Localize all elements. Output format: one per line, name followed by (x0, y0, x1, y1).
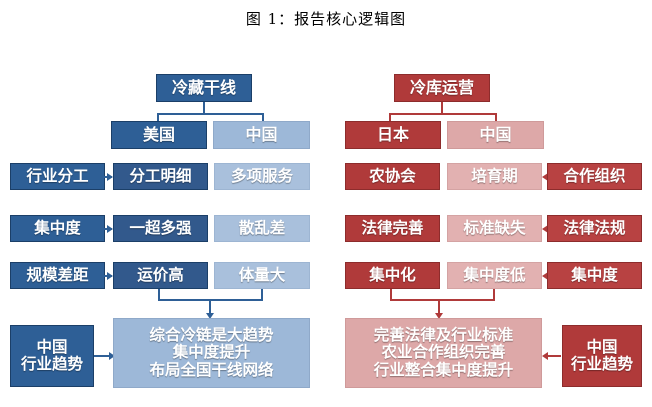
right-row-jp-2[interactable]: 集中化 (345, 262, 440, 289)
left-row-topic-1[interactable]: 集中度 (10, 215, 105, 242)
right-row-topic-1[interactable]: 法律法规 (547, 215, 642, 242)
right-row-topic-2[interactable]: 集中度 (547, 262, 642, 289)
right-root-box[interactable]: 冷库运营 (394, 74, 490, 102)
left-row-cn-2[interactable]: 体量大 (214, 262, 310, 289)
left-child-box-us[interactable]: 美国 (111, 121, 207, 149)
left-row-topic-2[interactable]: 规模差距 (10, 262, 105, 289)
left-root-bar (157, 113, 264, 115)
left-arrow-row-1-shaft (104, 228, 112, 230)
right-child-box-cn[interactable]: 中国 (447, 121, 544, 149)
left-row-us-0[interactable]: 分工明细 (113, 163, 208, 190)
right-merge-bar (390, 299, 495, 301)
left-conclusion-arrow-shaft (94, 355, 110, 357)
right-row-cn-0[interactable]: 培育期 (447, 163, 542, 190)
right-row-jp-0[interactable]: 农协会 (345, 163, 440, 190)
right-row-jp-1[interactable]: 法律完善 (345, 215, 440, 242)
left-conclusion-text[interactable]: 综合冷链是大趋势 集中度提升 布局全国干线网络 (113, 318, 310, 388)
figure-title: 图 1：报告核心逻辑图 (0, 8, 652, 29)
left-row-cn-1[interactable]: 散乱差 (214, 215, 310, 242)
left-row-cn-0[interactable]: 多项服务 (214, 163, 310, 190)
left-conclusion-label[interactable]: 中国 行业趋势 (10, 325, 94, 387)
left-child-box-cn[interactable]: 中国 (213, 121, 310, 149)
right-conclusion-arrow-icon (542, 352, 548, 360)
right-child-box-jp[interactable]: 日本 (345, 121, 441, 149)
right-row-cn-1[interactable]: 标准缺失 (447, 215, 542, 242)
left-row-us-1[interactable]: 一超多强 (113, 215, 208, 242)
diagram-canvas: 图 1：报告核心逻辑图 冷藏干线 美国 中国 行业分工 分工明细 多项服务 集中… (0, 0, 652, 407)
right-root-bar (389, 113, 497, 115)
left-row-us-2[interactable]: 运价高 (113, 262, 208, 289)
right-conclusion-label[interactable]: 中国 行业趋势 (562, 325, 642, 387)
left-arrow-row-0-shaft (104, 176, 112, 178)
left-row-topic-0[interactable]: 行业分工 (10, 163, 105, 190)
right-row-cn-2[interactable]: 集中度低 (447, 262, 542, 289)
left-root-box[interactable]: 冷藏干线 (156, 74, 252, 102)
right-row-topic-0[interactable]: 合作组织 (547, 163, 642, 190)
right-conclusion-text[interactable]: 完善法律及行业标准 农业合作组织完善 行业整合集中度提升 (345, 318, 542, 388)
left-arrow-row-2-shaft (104, 275, 112, 277)
